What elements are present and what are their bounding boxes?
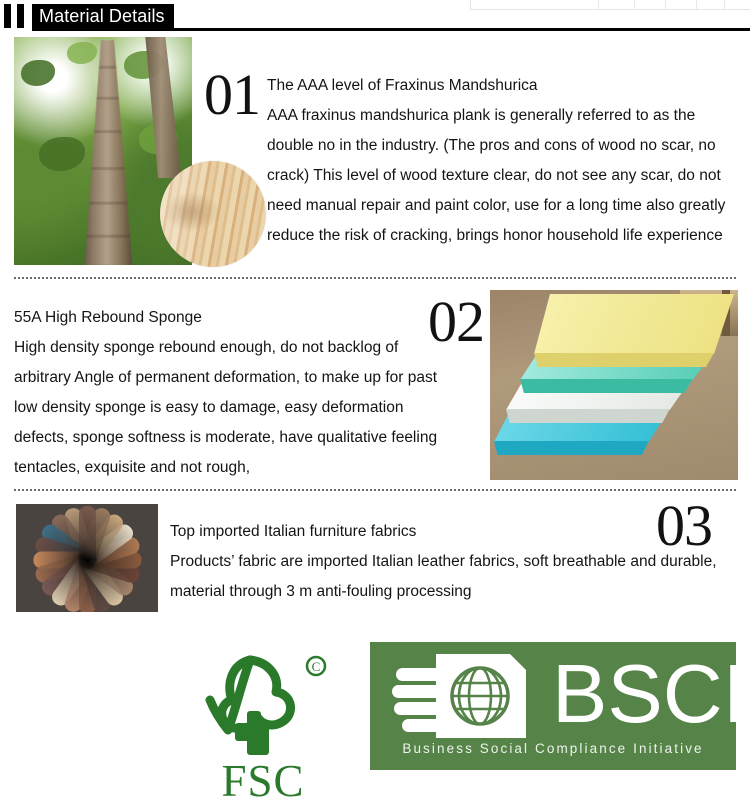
section-01-body: AAA fraxinus mandshurica plank is genera… (267, 101, 745, 251)
fsc-logo: C FSC (188, 648, 338, 800)
divider-1 (14, 277, 736, 279)
section-02-text: 55A High Rebound Sponge High density spo… (14, 303, 444, 483)
bsci-wordmark: BSCI (552, 648, 736, 740)
material-section-03: Top imported Italian furniture fabrics P… (0, 493, 750, 628)
section-number-01: 01 (204, 66, 260, 124)
fsc-tree-checkmark-icon: C (188, 648, 338, 760)
copyright-icon: C (307, 657, 325, 675)
section-03-body: Products’ fabric are imported Italian le… (170, 547, 730, 607)
page-title: Material Details (32, 4, 174, 28)
svg-text:C: C (312, 659, 321, 674)
material-details-page: Material Details 01 Th (0, 0, 750, 800)
section-03-heading: Top imported Italian furniture fabrics (170, 517, 730, 547)
wood-grain-swatch (160, 161, 266, 267)
certification-logos: C FSC (0, 630, 750, 800)
section-01-text: The AAA level of Fraxinus Mandshurica AA… (267, 71, 745, 251)
section-03-text: Top imported Italian furniture fabrics P… (170, 517, 730, 607)
divider-2 (14, 489, 736, 491)
fabric-swatch-blade (79, 506, 96, 560)
sponge-slabs-photo (490, 290, 738, 480)
section-02-body: High density sponge rebound enough, do n… (14, 333, 444, 483)
bsci-hand-globe-icon (392, 652, 542, 744)
section-header: Material Details (0, 4, 750, 30)
section-01-heading: The AAA level of Fraxinus Mandshurica (267, 71, 745, 101)
section-02-heading: 55A High Rebound Sponge (14, 303, 444, 333)
fabric-swatch-photo (16, 504, 158, 612)
header-bar-icon-2 (17, 4, 24, 28)
sponge-slab-yellow (534, 294, 734, 354)
bsci-tagline: Business Social Compliance Initiative (370, 741, 736, 756)
header-rule (32, 28, 750, 31)
fsc-wordmark: FSC (188, 759, 338, 804)
section-number-03: 03 (656, 497, 712, 555)
bsci-logo: BSCI Business Social Compliance Initiati… (370, 642, 736, 770)
section-number-02: 02 (428, 293, 484, 351)
material-section-01: 01 The AAA level of Fraxinus Mandshurica… (0, 33, 750, 275)
header-bar-icon (4, 4, 11, 28)
